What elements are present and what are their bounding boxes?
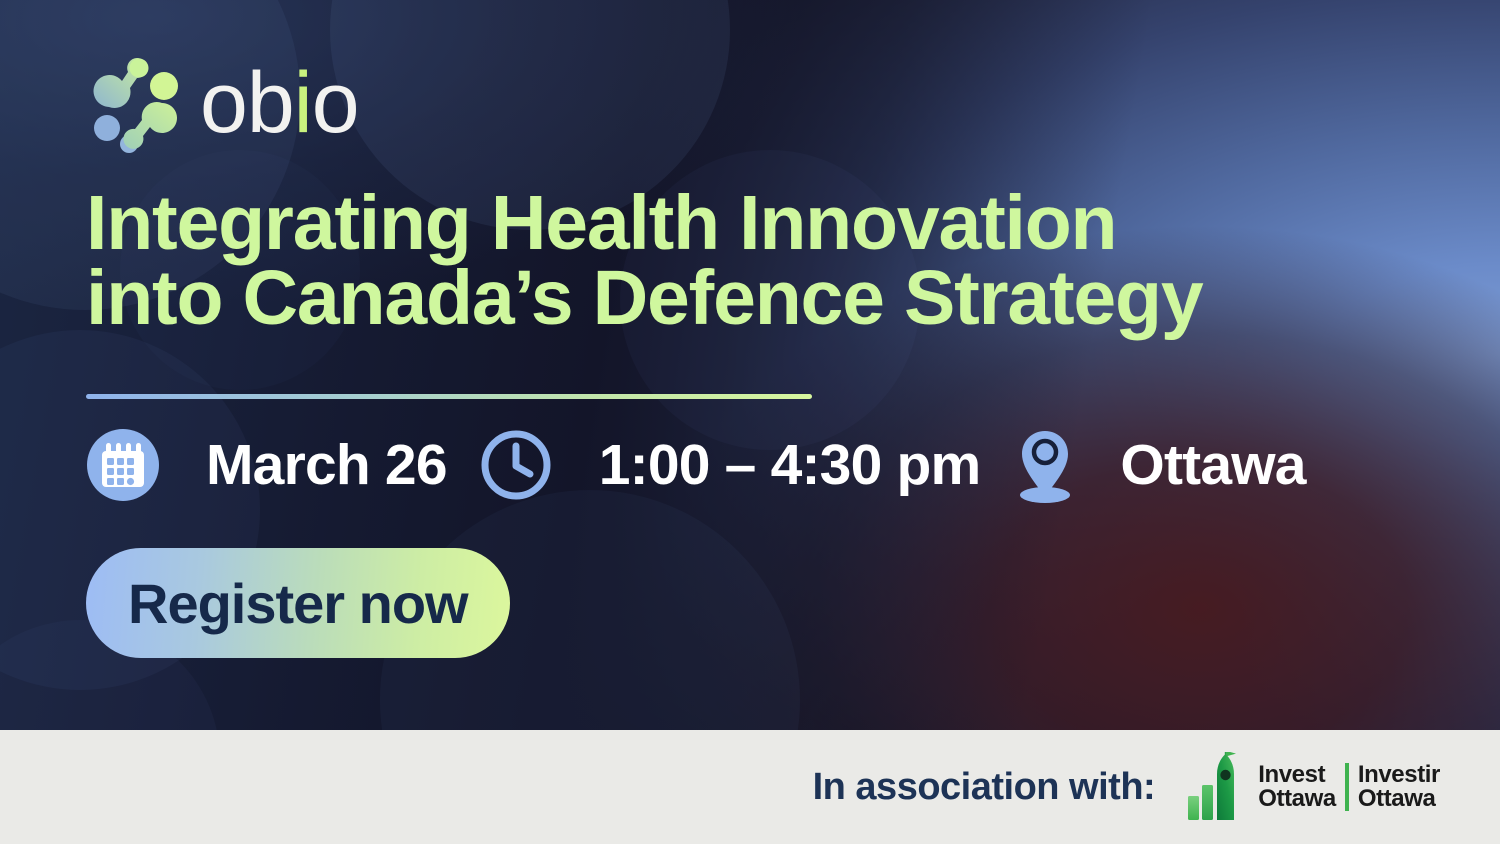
register-now-button[interactable]: Register now (86, 548, 510, 658)
io-fr-line-1: Investir (1358, 763, 1440, 787)
io-en-line-2: Ottawa (1258, 787, 1336, 811)
invest-ottawa-tower-icon (1187, 752, 1247, 822)
io-divider (1345, 763, 1349, 811)
event-location-label: Ottawa (1120, 437, 1305, 494)
obio-logo-mark (86, 52, 184, 154)
event-date-label: March 26 (206, 437, 447, 494)
event-date: March 26 (86, 428, 447, 502)
obio-logo[interactable]: obio (86, 52, 359, 154)
event-time: 1:00 – 4:30 pm (479, 428, 981, 502)
wordmark-part-i: i (294, 55, 312, 151)
event-location: Ottawa (1012, 425, 1305, 505)
invest-ottawa-wordmark: Invest Ottawa Investir Ottawa (1258, 763, 1440, 812)
wordmark-part-1: ob (200, 55, 294, 151)
headline-line-2: into Canada’s Defence Strategy (86, 261, 1416, 336)
map-pin-icon (1012, 425, 1078, 505)
io-en-line-1: Invest (1258, 763, 1336, 787)
event-promo-banner: obio Integrating Health Innovation into … (0, 0, 1500, 844)
invest-ottawa-english: Invest Ottawa (1258, 763, 1336, 812)
event-details-row: March 26 1:00 – 4:30 pm Ottawa (86, 425, 1306, 505)
invest-ottawa-french: Investir Ottawa (1358, 763, 1440, 812)
footer-bar: In association with: (0, 730, 1500, 844)
calendar-icon (86, 428, 160, 502)
invest-ottawa-logo[interactable]: Invest Ottawa Investir Ottawa (1187, 752, 1440, 822)
page-title: Integrating Health Innovation into Canad… (86, 186, 1416, 337)
clock-icon (479, 428, 553, 502)
headline-line-1: Integrating Health Innovation (86, 186, 1416, 261)
gradient-divider (86, 394, 812, 399)
event-time-label: 1:00 – 4:30 pm (599, 437, 981, 494)
io-fr-line-2: Ottawa (1358, 787, 1440, 811)
banner-content: obio Integrating Health Innovation into … (0, 0, 1500, 730)
wordmark-part-2: o (312, 55, 359, 151)
association-label: In association with: (813, 766, 1156, 809)
obio-wordmark: obio (200, 60, 359, 146)
